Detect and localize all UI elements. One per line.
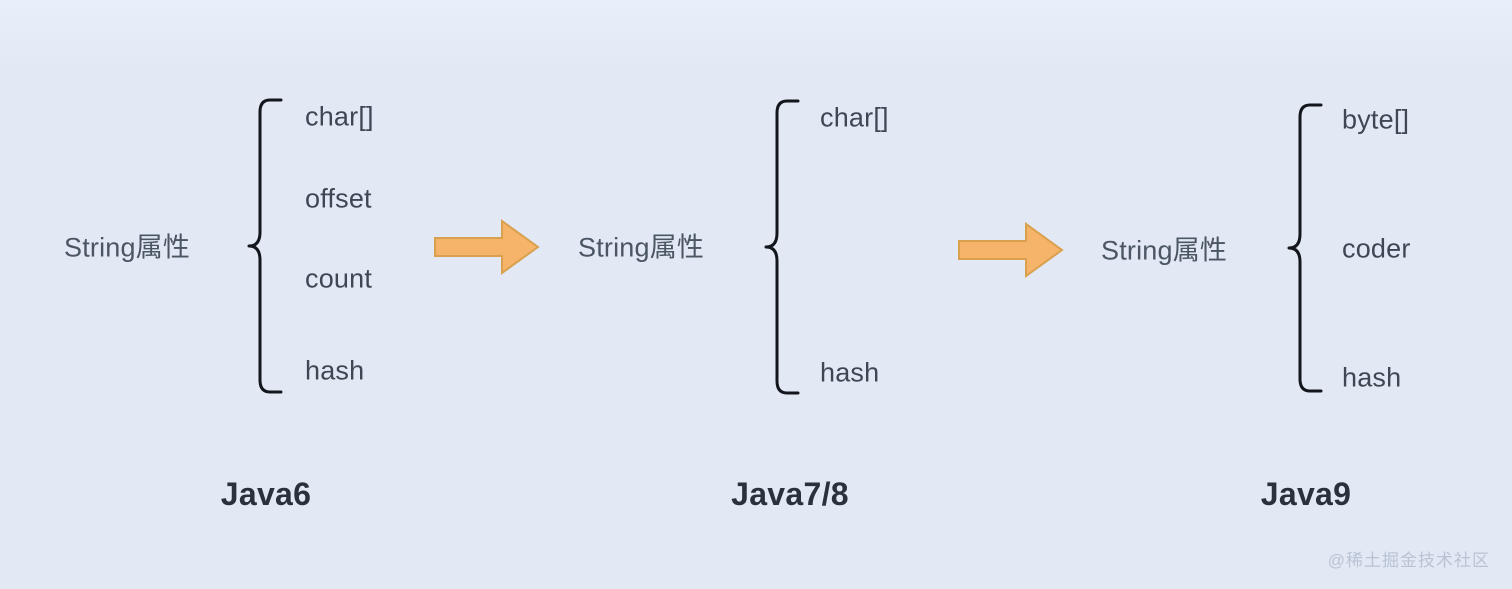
brace-java6 <box>248 96 282 396</box>
caption-java78: Java7/8 <box>731 476 849 513</box>
brace-java9 <box>1288 100 1322 396</box>
member-java6-1: offset <box>305 184 372 215</box>
member-java9-1: coder <box>1342 234 1411 265</box>
member-java9-2: hash <box>1342 363 1401 394</box>
member-java9-0: byte[] <box>1342 105 1409 136</box>
member-java6-0: char[] <box>305 102 374 133</box>
watermark: @稀土掘金技术社区 <box>1328 546 1490 571</box>
caption-java6: Java6 <box>221 476 311 513</box>
member-java6-2: count <box>305 264 372 295</box>
root-label-java6: String属性 <box>64 226 190 265</box>
root-label-java9: String属性 <box>1101 229 1227 268</box>
caption-java9: Java9 <box>1261 476 1351 513</box>
member-java78-0: char[] <box>820 103 889 134</box>
diagram-canvas: String属性 char[] offset count hash Java6 … <box>0 0 1512 589</box>
arrow-java6-to-java78 <box>434 219 540 275</box>
member-java78-1: hash <box>820 358 879 389</box>
member-java6-3: hash <box>305 356 364 387</box>
arrow-java78-to-java9 <box>958 222 1064 278</box>
brace-java78 <box>765 96 799 398</box>
root-label-java78: String属性 <box>578 226 704 265</box>
